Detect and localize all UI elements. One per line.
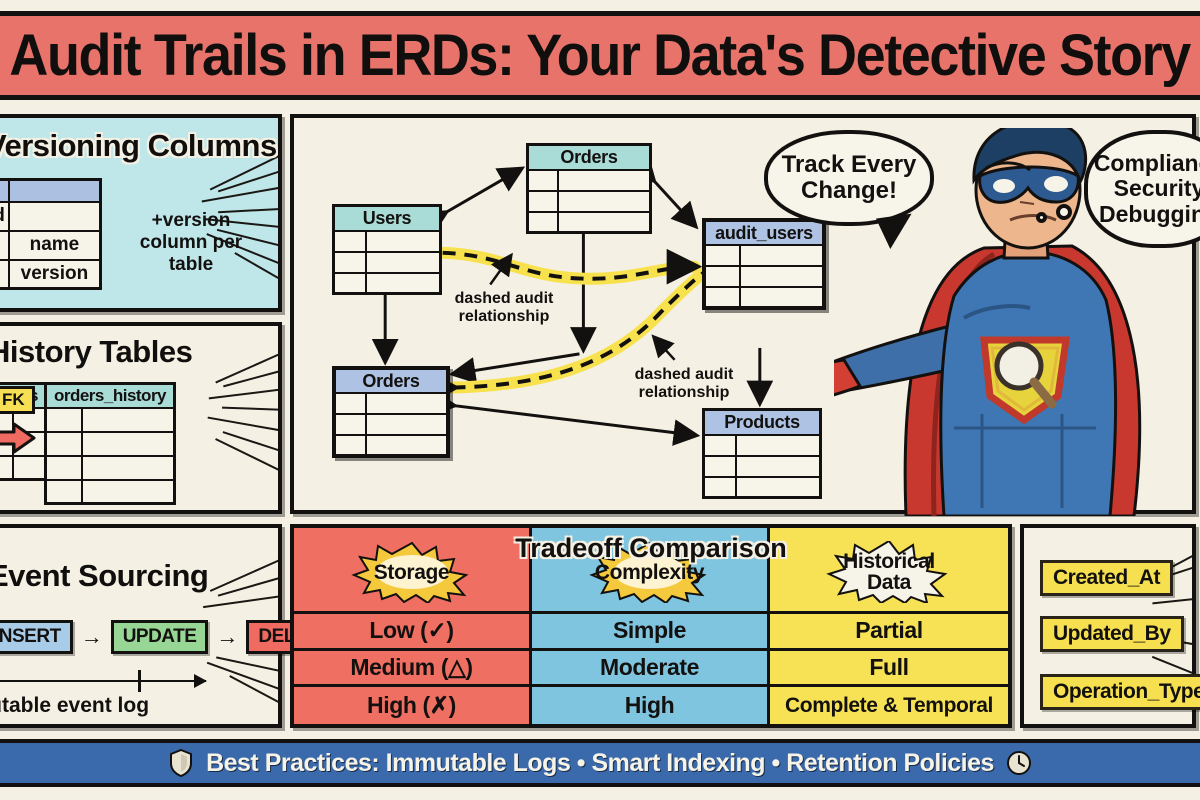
tradeoff-cell: Complete & Temporal [770,687,1008,724]
speech-bubble-track-every-change: Track Every Change! [764,130,934,226]
panel-tradeoff-comparison: Tradeoff Comparison Storage [290,524,1012,728]
shield-icon [168,748,194,778]
cell [9,202,101,231]
tradeoff-column-label: Complexity [595,562,704,583]
timeline-axis [0,680,206,682]
erd-table-audit-users: audit_users [702,218,826,310]
table-row: name [0,231,101,260]
clock-icon [1006,748,1032,778]
table-row [704,266,824,287]
panel-erd-diagram: Users Orders audit_users Orders Products [290,114,1196,514]
table-header-row: Orders [334,368,448,393]
audit-tag-updated-by: Updated_By [1040,616,1184,652]
panel-versioning-title: Versioning Columns [0,128,277,164]
table-row [46,480,175,504]
cell: name [9,231,101,260]
panel-versioning-columns: Versioning Columns id name version +vers… [0,114,282,312]
table-header-row: Products [704,410,821,435]
table-row [528,170,651,191]
table-row [334,273,441,294]
arrow-right-icon: → [81,624,103,650]
thought-bubble-text: Compliance Security Debugging [1088,151,1200,227]
table-row [528,212,651,233]
tradeoff-cell: High [532,687,770,724]
table-row [334,252,441,273]
table-row [528,191,651,212]
audit-tag-operation-type: Operation_Type [1040,674,1200,710]
tradeoff-cell: Moderate [532,651,770,688]
panel-history-title: History Tables [0,334,192,370]
title-banner: Audit Trails in ERDs: Your Data's Detect… [0,11,1200,100]
table-row [334,231,441,252]
table-row: id [0,202,101,231]
fk-badge: FK [0,386,35,414]
arrow-right-icon: → [216,624,238,650]
erd-note-audit-relationship-2: dashed audit relationship [624,366,744,401]
event-sourcing-caption: immutable event log [0,694,149,718]
table-row [46,432,175,456]
table-name: audit_users [704,220,824,245]
table-row [704,456,821,477]
erd-table-products: Products [702,408,822,499]
tradeoff-column-label: Storage [374,562,449,583]
table-name: Products [704,410,821,435]
table-row [704,245,824,266]
cell [9,180,101,202]
cell [0,231,9,260]
speech-bubble-text: Track Every Change! [768,152,930,205]
panel-history-tables: History Tables orders FK orders_history [0,322,282,514]
versioning-table: id name version [0,178,102,290]
fk-arrow-icon [0,421,36,455]
table-row [46,456,175,480]
table-name: Orders [334,368,448,393]
erd-note-audit-relationship-1: dashed audit relationship [444,290,564,325]
tradeoff-cell: Simple [532,614,770,651]
table-name: Orders [528,145,651,170]
table-row [704,477,821,498]
footer-best-practices: Best Practices: Immutable Logs • Smart I… [0,739,1200,787]
versioning-note: +version column per table [116,210,266,276]
panel-audit-column-tags: Created_At Updated_By Operation_Type [1020,524,1196,728]
timeline-tick [138,670,141,692]
cell [0,260,9,289]
thought-dot-large [1056,204,1072,220]
erd-table-orders: Orders [526,143,652,234]
table-row [334,435,448,456]
cell: id [0,202,9,231]
panel-event-sourcing-title: Event Sourcing [0,558,208,594]
cell [0,180,9,202]
history-target-table: orders_history [44,382,176,505]
tradeoff-cell: Medium (△) [294,651,532,688]
tradeoff-title: Tradeoff Comparison [294,533,1008,564]
table-header-row: Orders [528,145,651,170]
tradeoff-cell: Low (✓) [294,614,532,651]
table-header-row: Users [334,206,441,231]
erd-table-users: Users [332,204,442,295]
infographic-page: Audit Trails in ERDs: Your Data's Detect… [0,0,1200,800]
table-row [704,287,824,308]
event-chip-insert: INSERT [0,620,73,654]
table-name: orders_history [46,384,175,408]
footer-text: Best Practices: Immutable Logs • Smart I… [206,749,994,778]
table-row [0,180,101,202]
tradeoff-cell: High (✗) [294,687,532,724]
tradeoff-cell: Full [770,651,1008,688]
tradeoff-cell: Partial [770,614,1008,651]
erd-table-orders-audit: Orders [332,366,450,458]
thought-dot-small [1036,212,1047,223]
cell: version [9,260,101,289]
audit-tag-created-at: Created_At [1040,560,1173,596]
page-title: Audit Trails in ERDs: Your Data's Detect… [10,22,1190,89]
table-row [334,393,448,414]
table-row: version [0,260,101,289]
table-row [704,435,821,456]
panel-event-sourcing: Event Sourcing INSERT → UPDATE → DELETE … [0,524,282,728]
table-header-row: audit_users [704,220,824,245]
table-header-row: orders_history [46,384,175,408]
table-row [334,414,448,435]
table-row [46,408,175,432]
table-row [0,456,47,480]
table-name: Users [334,206,441,231]
thought-bubble-compliance: Compliance Security Debugging [1084,130,1200,248]
event-chip-update: UPDATE [111,620,209,654]
